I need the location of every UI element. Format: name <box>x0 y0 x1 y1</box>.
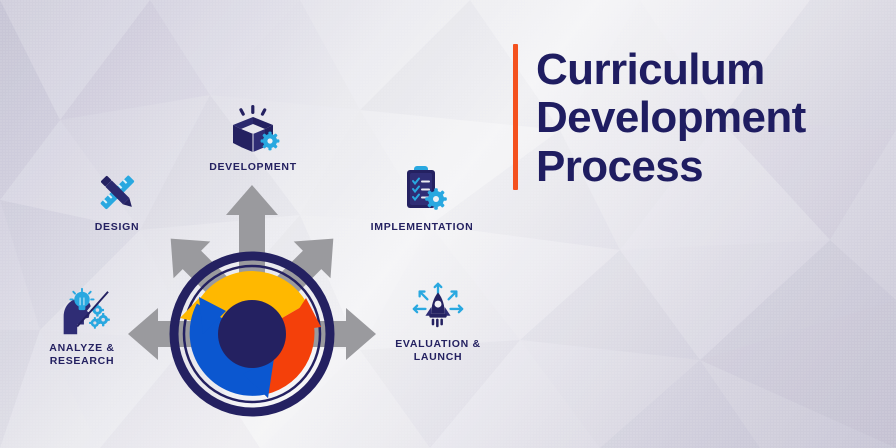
open-box-gear-icon <box>225 100 281 156</box>
gear-icon <box>425 188 447 210</box>
title-accent-bar <box>513 44 518 190</box>
step-design[interactable]: DESIGN <box>42 160 192 234</box>
rocket-arrows-icon <box>410 277 466 333</box>
step-evaluation-launch-label: EVALUATION & LAUNCH <box>395 338 481 364</box>
page-title: Curriculum Development Process <box>536 44 806 191</box>
step-design-label: DESIGN <box>95 221 139 234</box>
step-development-label: DEVELOPMENT <box>209 161 297 174</box>
head-lightbulb-gears-icon <box>54 281 110 337</box>
step-analyze-research[interactable]: ANALYZE & RESEARCH <box>7 281 157 368</box>
infographic-canvas: DESIGN <box>0 0 896 448</box>
step-implementation[interactable]: IMPLEMENTATION <box>347 160 497 234</box>
step-implementation-label: IMPLEMENTATION <box>371 221 474 234</box>
gear-icon <box>89 303 110 328</box>
gear-icon <box>261 132 280 151</box>
step-development[interactable]: DEVELOPMENT <box>178 100 328 174</box>
page-title-block: Curriculum Development Process <box>513 44 806 191</box>
process-diagram: DESIGN <box>0 0 520 448</box>
step-evaluation-launch[interactable]: EVALUATION & LAUNCH <box>363 277 513 364</box>
step-analyze-research-label: ANALYZE & RESEARCH <box>49 342 114 368</box>
pencil-ruler-icon <box>89 160 145 216</box>
clipboard-checklist-gear-icon <box>394 160 450 216</box>
wheel-hub <box>218 300 286 368</box>
